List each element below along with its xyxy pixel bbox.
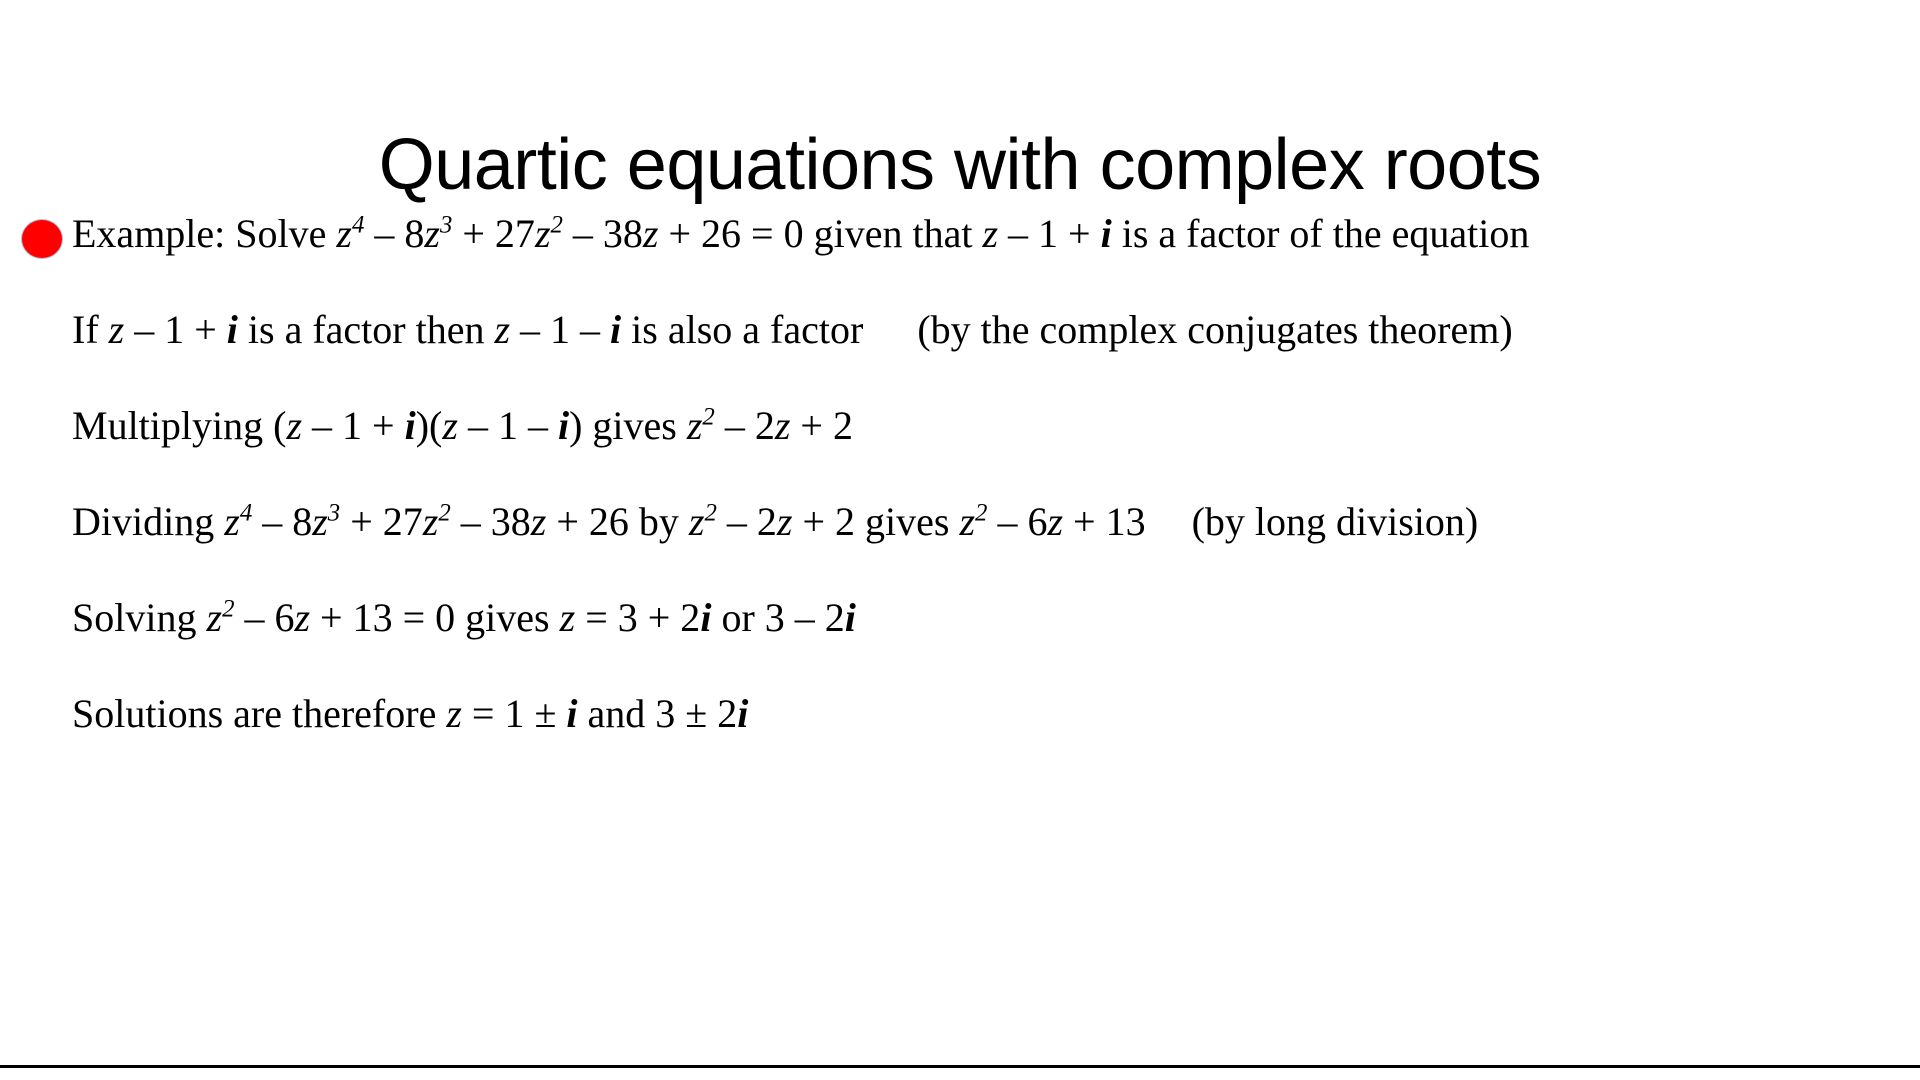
- example-sup2: 3: [440, 212, 452, 239]
- bottom-divider: [0, 1065, 1920, 1068]
- div-var1: z: [224, 499, 240, 544]
- example-op5: – 1 +: [998, 211, 1101, 256]
- div-var5: z: [689, 499, 705, 544]
- if-var1: z: [109, 307, 125, 352]
- solv-op4: or 3 – 2: [711, 595, 844, 640]
- div-sup5: 2: [704, 500, 716, 527]
- div-var7: z: [959, 499, 975, 544]
- solv-var3: z: [560, 595, 576, 640]
- div-op2: + 27: [340, 499, 423, 544]
- example-imaginary-unit: i: [1101, 211, 1112, 256]
- example-var4: z: [643, 211, 659, 256]
- solv-imaginary-unit-1: i: [700, 595, 711, 640]
- if-lead: If: [72, 307, 109, 352]
- div-sup2: 3: [328, 500, 340, 527]
- mul-op4: ) gives: [569, 403, 687, 448]
- sol-imaginary-unit-1: i: [566, 691, 577, 736]
- if-note: (by the complex conjugates theorem): [917, 307, 1512, 352]
- example-op3: – 38: [563, 211, 643, 256]
- solv-var2: z: [294, 595, 310, 640]
- div-tail: + 13: [1063, 499, 1146, 544]
- div-op4: + 26 by: [546, 499, 689, 544]
- mul-lead: Multiplying (: [72, 403, 286, 448]
- dividing-line-text: Dividing z4 – 8z3 + 27z2 – 38z + 26 by z…: [72, 496, 1478, 548]
- mul-var3: z: [687, 403, 703, 448]
- if-op2: is a factor then: [238, 307, 495, 352]
- div-op5: – 2: [717, 499, 777, 544]
- mul-imaginary-unit-2: i: [558, 403, 569, 448]
- mul-var2: z: [442, 403, 458, 448]
- if-op1: – 1 +: [124, 307, 227, 352]
- line-solving: Solving z2 – 6z + 13 = 0 gives z = 3 + 2…: [22, 592, 1902, 688]
- div-sup3: 2: [438, 500, 450, 527]
- line-multiplying: Multiplying (z – 1 + i)(z – 1 – i) gives…: [22, 400, 1902, 496]
- if-factor-line-text: If z – 1 + i is a factor then z – 1 – i …: [72, 304, 1513, 356]
- mul-op2: )(: [416, 403, 443, 448]
- example-lead: Example: Solve: [72, 211, 336, 256]
- line-solutions: Solutions are therefore z = 1 ± i and 3 …: [22, 688, 1902, 784]
- slide-canvas: Quartic equations with complex roots Exa…: [0, 0, 1920, 1080]
- if-var2: z: [494, 307, 510, 352]
- div-op3: – 38: [451, 499, 531, 544]
- div-op7: – 6: [987, 499, 1047, 544]
- if-imaginary-unit-2: i: [610, 307, 621, 352]
- multiplying-line-text: Multiplying (z – 1 + i)(z – 1 – i) gives…: [72, 400, 853, 452]
- example-op4: + 26 = 0 given that: [659, 211, 983, 256]
- sol-op1: = 1 ±: [462, 691, 567, 736]
- if-op3: – 1 –: [510, 307, 610, 352]
- example-op2: + 27: [452, 211, 535, 256]
- div-var8: z: [1047, 499, 1063, 544]
- div-sup1: 4: [240, 500, 252, 527]
- div-var2: z: [312, 499, 328, 544]
- mul-op3: – 1 –: [458, 403, 558, 448]
- solv-lead: Solving: [72, 595, 206, 640]
- div-sup7: 2: [975, 500, 987, 527]
- example-op1: – 8: [364, 211, 424, 256]
- mul-op1: – 1 +: [302, 403, 405, 448]
- solutions-line-text: Solutions are therefore z = 1 ± i and 3 …: [72, 688, 748, 740]
- solv-var1: z: [206, 595, 222, 640]
- mul-tail: + 2: [790, 403, 853, 448]
- div-op6: + 2 gives: [792, 499, 959, 544]
- example-var5: z: [982, 211, 998, 256]
- if-imaginary-unit-1: i: [227, 307, 238, 352]
- if-op4: is also a factor: [621, 307, 863, 352]
- sol-imaginary-unit-2: i: [737, 691, 748, 736]
- example-var3: z: [535, 211, 551, 256]
- mul-var1: z: [286, 403, 302, 448]
- solv-imaginary-unit-2: i: [845, 595, 856, 640]
- mul-sup3: 2: [702, 404, 714, 431]
- example-tail: is a factor of the equation: [1112, 211, 1530, 256]
- slide-body: Example: Solve z4 – 8z3 + 27z2 – 38z + 2…: [22, 208, 1902, 784]
- red-bullet-icon: [22, 220, 62, 258]
- page-title: Quartic equations with complex roots: [0, 122, 1920, 208]
- mul-var4: z: [775, 403, 791, 448]
- line-if-factor: If z – 1 + i is a factor then z – 1 – i …: [22, 304, 1902, 400]
- sol-var1: z: [446, 691, 462, 736]
- solv-op2: + 13 = 0 gives: [310, 595, 560, 640]
- line-dividing: Dividing z4 – 8z3 + 27z2 – 38z + 26 by z…: [22, 496, 1902, 592]
- bullet-line-example: Example: Solve z4 – 8z3 + 27z2 – 38z + 2…: [22, 208, 1902, 304]
- solving-line-text: Solving z2 – 6z + 13 = 0 gives z = 3 + 2…: [72, 592, 856, 644]
- div-lead: Dividing: [72, 499, 224, 544]
- example-line-text: Example: Solve z4 – 8z3 + 27z2 – 38z + 2…: [72, 208, 1529, 260]
- div-var3: z: [423, 499, 439, 544]
- div-var6: z: [777, 499, 793, 544]
- sol-lead: Solutions are therefore: [72, 691, 446, 736]
- example-var2: z: [424, 211, 440, 256]
- solv-sup1: 2: [222, 596, 234, 623]
- example-sup3: 2: [551, 212, 563, 239]
- example-sup1: 4: [352, 212, 364, 239]
- mul-op5: – 2: [715, 403, 775, 448]
- sol-op2: and 3 ± 2: [578, 691, 738, 736]
- mul-imaginary-unit-1: i: [405, 403, 416, 448]
- solv-op1: – 6: [234, 595, 294, 640]
- div-note: (by long division): [1192, 499, 1479, 544]
- div-op1: – 8: [252, 499, 312, 544]
- example-var1: z: [336, 211, 352, 256]
- solv-op3: = 3 + 2: [575, 595, 700, 640]
- div-var4: z: [531, 499, 547, 544]
